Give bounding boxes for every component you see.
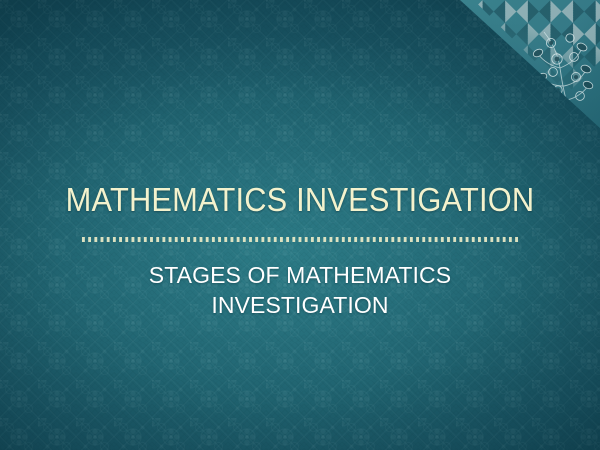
slide-subtitle-line-1: STAGES OF MATHEMATICS [0, 260, 600, 290]
slide-subtitle-line-2: INVESTIGATION [0, 290, 600, 320]
title-divider [82, 237, 518, 242]
slide-content: MATHEMATICS INVESTIGATION STAGES OF MATH… [0, 0, 600, 450]
presentation-slide: MATHEMATICS INVESTIGATION STAGES OF MATH… [0, 0, 600, 450]
slide-subtitle: STAGES OF MATHEMATICS INVESTIGATION [0, 260, 600, 321]
slide-title: MATHEMATICS INVESTIGATION [24, 183, 576, 218]
